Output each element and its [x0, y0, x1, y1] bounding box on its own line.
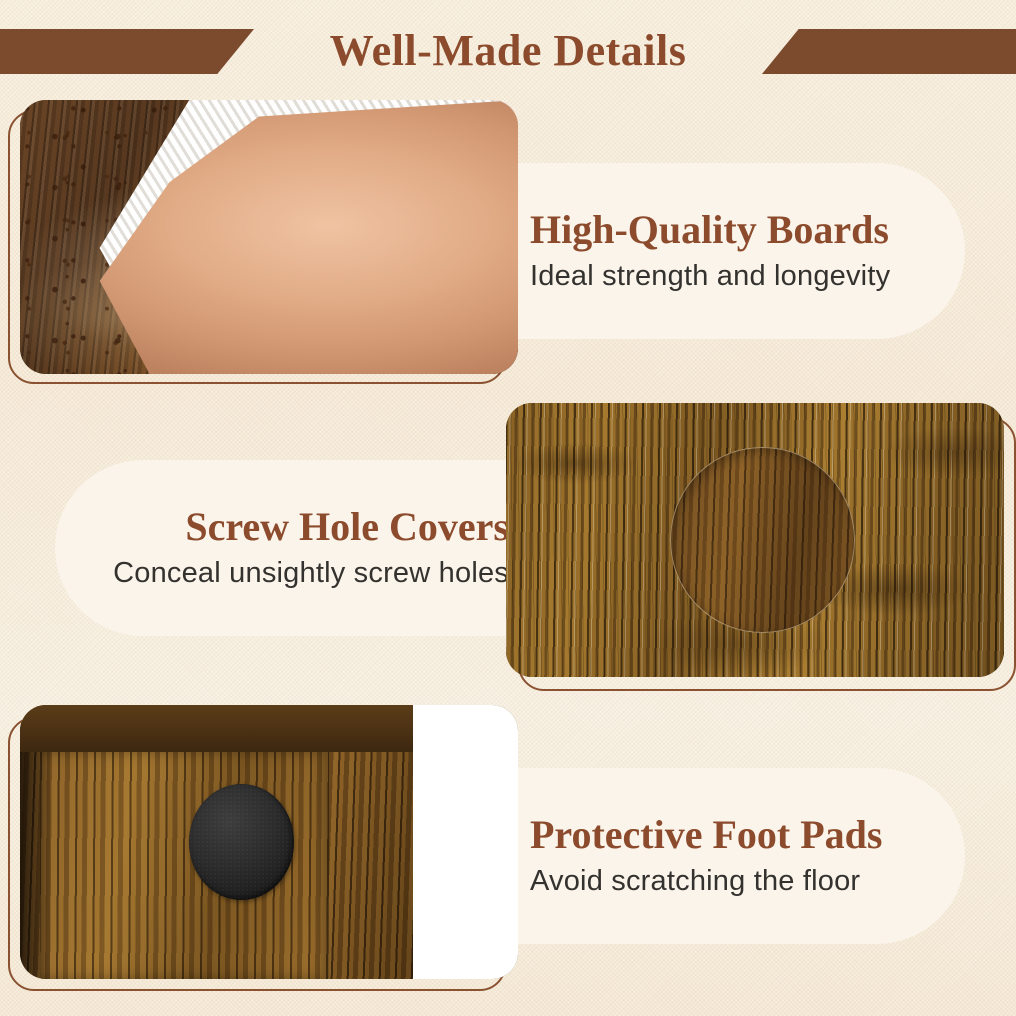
feature-2-subtitle: Conceal unsightly screw holes	[91, 552, 509, 594]
feature-3-title: Protective Foot Pads	[530, 810, 929, 860]
screw-hole-cover-cap	[670, 447, 854, 633]
infographic-page: Well-Made Details High-Quality Boards Id…	[0, 0, 1016, 1016]
feature-1-photo	[20, 100, 518, 374]
protective-foot-pad	[189, 784, 294, 899]
feature-2-title: Screw Hole Covers	[91, 502, 509, 552]
feature-1-image-card	[8, 100, 518, 384]
feature-2-photo	[506, 403, 1004, 677]
page-header: Well-Made Details	[0, 0, 1016, 100]
wooden-leg-top-face	[20, 705, 413, 752]
feature-1-subtitle: Ideal strength and longevity	[530, 255, 929, 297]
page-title: Well-Made Details	[0, 22, 1016, 80]
feature-3-subtitle: Avoid scratching the floor	[530, 860, 929, 902]
feature-3-photo	[20, 705, 518, 979]
feature-3-image-card	[8, 705, 518, 997]
wooden-leg-shadow-edge	[20, 752, 50, 979]
feature-2-image-card	[500, 403, 1016, 691]
feature-1-title: High-Quality Boards	[530, 205, 929, 255]
